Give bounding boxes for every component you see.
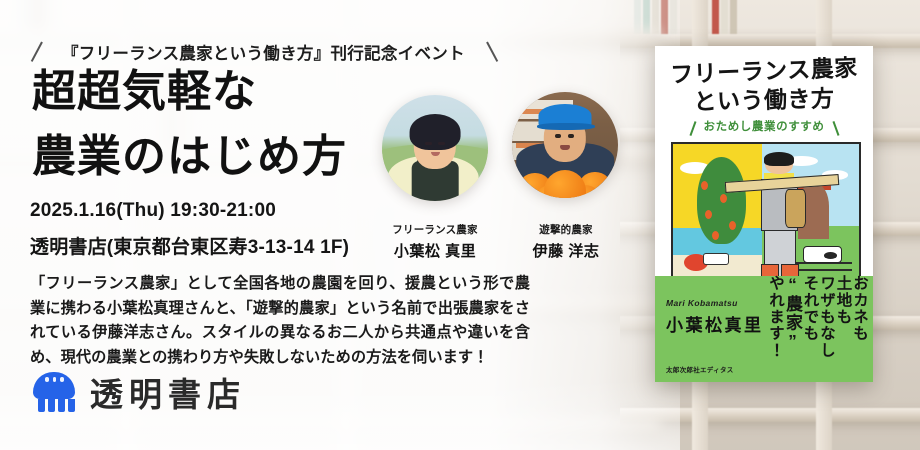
page-title: 超超気軽な 農業のはじめ方 [28,62,351,189]
store-brand: 透明書店 [32,368,246,416]
store-name: 透明書店 [90,368,246,416]
book-band: やれます！ “農家” それでも ワザもなし 土地も おカネも Mari Koba… [655,276,873,382]
book-author-jp: 小葉松真里 [666,311,764,336]
book-publisher: 太郎次郎社エディタス [666,364,734,374]
jellyfish-icon [32,370,76,414]
slash-left-icon [30,42,52,62]
tagline-column: “農家” [784,272,801,352]
speaker-photo-kobamatsu [382,95,488,201]
speaker-caption-ito: 遊撃的農家 伊藤 洋志 [486,222,646,261]
speaker-photo-ito [512,92,618,198]
event-venue: 透明書店(東京都台東区寿3-13-14 1F) [30,232,349,259]
farmer-illustration-icon [755,152,803,276]
event-banner: 『フリーランス農家という働き方』刊行記念イベント 超超気軽な 農業のはじめ方 2… [0,0,920,450]
slash-right-icon [475,42,497,62]
book-tagline: やれます！ “農家” それでも ワザもなし 土地も おカネも [768,272,868,380]
book-illustration [671,142,861,278]
event-meta: 2025.1.16(Thu) 19:30-21:00 透明書店(東京都台東区寿3… [30,200,349,259]
tagline-column: おカネも [852,272,868,342]
book-cover: フリーランス農家 という働き方 おためし農業のすすめ [655,46,873,382]
event-kicker: 『フリーランス農家という働き方』刊行記念イベント [30,40,497,64]
book-subtitle: おためし農業のすすめ [690,121,839,135]
tagline-column: やれます！ [768,272,784,359]
book-author: Mari Kobamatsu 小葉松真里 [666,298,764,336]
banner-content: 『フリーランス農家という働き方』刊行記念イベント 超超気軽な 農業のはじめ方 2… [0,0,920,450]
book-title-line-1: フリーランス農家 [655,54,873,89]
event-description: 「フリーランス農家」として全国各地の農園を回り、援農という形で農業に携わる小葉松… [30,272,530,371]
tagline-column: 土地も [835,272,851,325]
title-line-1: 超超気軽な [28,62,261,125]
kicker-text: 『フリーランス農家という働き方』刊行記念イベント [62,40,465,64]
speaker-name: 伊藤 洋志 [486,240,646,261]
book-title-line-2: という働き方 [655,84,873,116]
event-datetime: 2025.1.16(Thu) 19:30-21:00 [30,200,349,222]
title-line-2: 農業のはじめ方 [28,127,351,190]
tagline-column: それでも [802,272,818,342]
speaker-role: 遊撃的農家 [486,222,646,237]
book-author-roman: Mari Kobamatsu [666,298,764,308]
tagline-column: ワザもなし [819,272,835,359]
book-title-block: フリーランス農家 という働き方 おためし農業のすすめ [655,58,873,136]
